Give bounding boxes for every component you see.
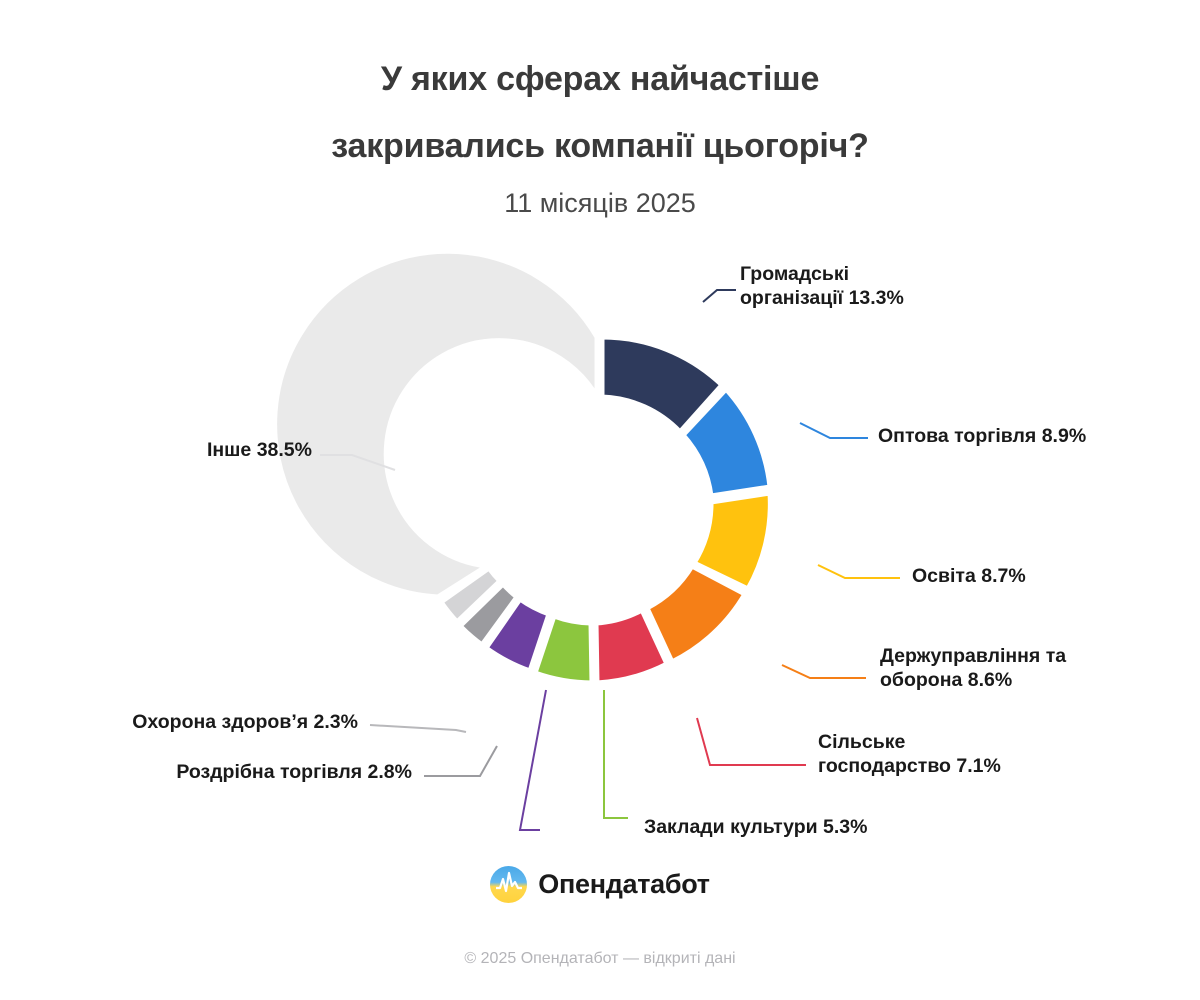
label-okhorona-zdorovia: Охорона здоров’я 2.3% xyxy=(10,710,358,734)
label-inshe: Інше 38.5% xyxy=(40,438,312,462)
leader-line-unlabeled xyxy=(520,690,546,830)
leader-line-okhorona-zdorovia xyxy=(370,725,466,732)
label-osvita: Освіта 8.7% xyxy=(912,564,1172,588)
label-silske-hospodarstvo: Сільське господарство 7.1% xyxy=(818,730,1118,778)
label-rozdribna-torhivlia: Роздрібна торгівля 2.8% xyxy=(40,760,412,784)
leader-line-rozdribna-torhivlia xyxy=(424,746,497,776)
opendatabot-logo-icon xyxy=(490,866,527,903)
donut-chart: Громадські організації 13.3% Оптова торг… xyxy=(0,0,1200,1000)
leader-line-hromadski-orhanizatsii xyxy=(703,290,736,302)
leader-line-optova-torhivlia xyxy=(800,423,868,438)
leader-line-osvita xyxy=(818,565,900,578)
leader-line-silske-hospodarstvo xyxy=(697,718,806,765)
brand-name: Опендатабот xyxy=(538,869,709,900)
label-zakladi-kulturi: Заклади культури 5.3% xyxy=(644,815,1004,839)
label-optova-torhivlia: Оптова торгівля 8.9% xyxy=(878,424,1198,448)
label-derzhupravlinnia-ta-oborona: Держуправління та оборона 8.6% xyxy=(880,644,1180,692)
footer-copyright: © 2025 Опендатабот — відкриті дані xyxy=(0,950,1200,968)
donut-segment-inshe[interactable] xyxy=(275,251,597,597)
donut-chart-svg xyxy=(0,0,1200,1000)
leader-line-derzhupravlinnia xyxy=(782,665,866,678)
label-hromadski-orhanizatsii: Громадські організації 13.3% xyxy=(740,262,1040,310)
brand-logo: Опендатабот xyxy=(0,866,1200,903)
leader-line-zakladi-kulturi xyxy=(604,690,628,818)
